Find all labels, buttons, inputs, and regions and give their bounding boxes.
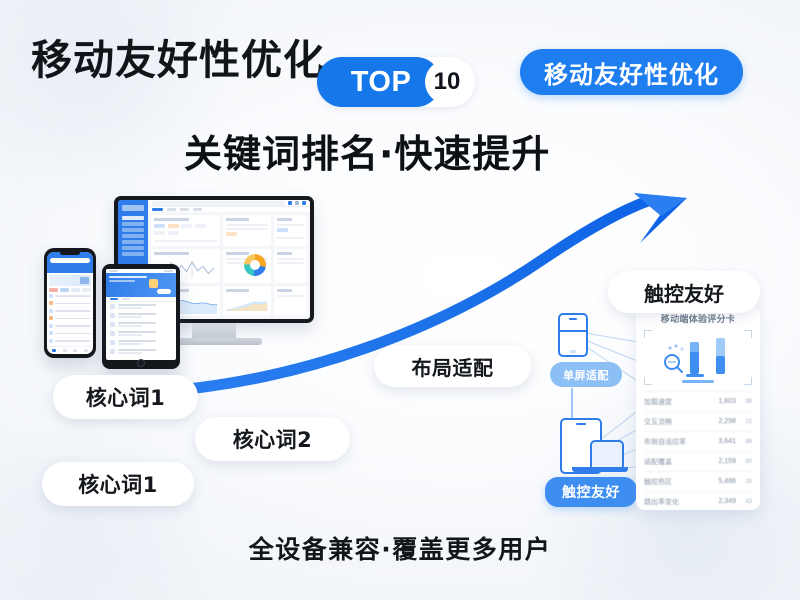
touch-friendly-heading: 触控友好 [608, 271, 760, 313]
category-chip [49, 288, 58, 292]
sidebar-item [122, 246, 144, 250]
layout-adapt-pill[interactable]: 布局适配 [374, 345, 531, 387]
scorecard-bar-chart [644, 330, 752, 385]
tablet-device-icon [102, 264, 180, 369]
tab-item [152, 208, 163, 211]
list-item [49, 324, 91, 328]
list-item [49, 339, 91, 343]
filter-chip [154, 224, 165, 228]
sidebar-item [122, 222, 144, 226]
donut-chart [244, 254, 266, 276]
row-icon [110, 304, 115, 309]
stat-chip [226, 232, 237, 236]
tab-item [122, 298, 130, 300]
category-chip [82, 288, 91, 292]
banner-button [157, 289, 171, 294]
mobile-experience-scorecard: 移动端体验评分卡 加载速度 [636, 305, 760, 510]
tab-item [193, 208, 202, 211]
list-item [110, 349, 172, 354]
table-row: 跳出率变化 2,349 43 [644, 491, 752, 510]
card-line [277, 224, 304, 226]
card-title [226, 252, 249, 255]
diagram-phone-icon [558, 313, 588, 357]
row-icon [49, 309, 53, 313]
banner-line [109, 276, 147, 278]
card-line [154, 240, 217, 242]
tablet-list [106, 302, 176, 360]
scorecard-rows: 加载速度 1,603 98 交互流畅 2,298 15 布局自适应率 3,641… [644, 391, 752, 510]
filter-chip [195, 224, 206, 228]
card-title [226, 218, 249, 221]
sidebar-item [122, 252, 144, 256]
top-rank-number: 10 [425, 60, 469, 104]
dashboard-card-kpi [274, 249, 307, 283]
row-icon [49, 324, 53, 328]
table-row: 适配覆盖 2,159 60 [644, 451, 752, 471]
list-item [110, 304, 172, 309]
card-title [277, 252, 292, 255]
banner-line [109, 280, 135, 282]
row-icon [49, 301, 53, 305]
smartphone-device-icon [44, 248, 96, 358]
filter-chip [154, 231, 165, 235]
row-icon [110, 313, 115, 318]
topbar-icon [295, 201, 299, 205]
tab-item [110, 298, 118, 300]
card-title [154, 218, 189, 221]
tabbar-item [73, 349, 77, 352]
dashboard-logo [122, 205, 144, 211]
tablet-home-button [137, 359, 145, 367]
list-item [110, 313, 172, 318]
list-item [49, 294, 91, 298]
keyword-pill-2[interactable]: 核心词2 [195, 417, 350, 461]
sidebar-item [122, 228, 144, 232]
phone-result-list [47, 294, 93, 347]
row-icon [49, 331, 53, 335]
diagram-laptop-base [572, 467, 628, 472]
table-row: 触控热区 5,486 28 [644, 471, 752, 491]
table-row: 布局自适应率 3,641 88 [644, 431, 752, 451]
list-item [110, 322, 172, 327]
tabbar-item [52, 349, 56, 352]
sidebar-item [122, 240, 144, 244]
phone-banner [49, 275, 91, 286]
card-title [277, 289, 292, 292]
row-icon [110, 322, 115, 327]
card-line [226, 224, 267, 226]
table-row: 交互流畅 2,298 15 [644, 411, 752, 431]
phone-tabbar [47, 346, 93, 354]
keyword-pill-1[interactable]: 核心词1 [53, 375, 198, 419]
dashboard-card-side [274, 215, 307, 246]
tabbar-item [63, 349, 67, 352]
category-chip [71, 288, 80, 292]
tab-item [180, 208, 189, 211]
card-line [226, 228, 267, 230]
tab-item [167, 208, 176, 211]
card-line [277, 295, 304, 297]
card-title [154, 252, 189, 255]
keyword-pill-3[interactable]: 核心词1 [42, 462, 194, 506]
list-item [49, 316, 91, 320]
dashboard-card-donut [223, 249, 270, 283]
table-row: 加载速度 1,603 98 [644, 391, 752, 411]
single-screen-pill: 单屏适配 [550, 362, 622, 387]
tabbar-item [84, 349, 88, 352]
status-right [164, 270, 173, 272]
sidebar-item [122, 216, 144, 220]
card-title [277, 218, 292, 221]
filter-chip [181, 224, 192, 228]
list-item [110, 331, 172, 336]
card-line [277, 237, 304, 239]
phone-screen [47, 252, 93, 354]
search-input [152, 201, 285, 206]
monitor-base [166, 338, 262, 345]
category-chip [60, 288, 69, 292]
poster-canvas: 移动友好性优化 TOP 10 移动友好性优化 关键词排名·快速提升 [0, 0, 800, 600]
phone-header [47, 252, 93, 273]
list-item [49, 301, 91, 305]
scorecard-title: 移动端体验评分卡 [644, 312, 752, 325]
tablet-screen [106, 269, 176, 360]
list-item [49, 331, 91, 335]
sidebar-item [122, 234, 144, 238]
dashboard-card-stat [223, 215, 270, 246]
row-icon [49, 294, 53, 298]
scorecard-illustration [644, 330, 752, 385]
filter-chip [168, 224, 179, 228]
row-icon [49, 339, 53, 343]
stat-chip [277, 228, 288, 232]
row-icon [110, 349, 115, 354]
list-item [110, 340, 172, 345]
row-icon [49, 316, 53, 320]
row-icon [110, 331, 115, 336]
topbar-icon [288, 201, 292, 205]
topbar-icon [302, 201, 306, 205]
phone-notch [60, 250, 80, 255]
card-title [226, 289, 249, 292]
touch-friendly-pill: 触控友好 [545, 477, 637, 507]
filter-chip [168, 231, 179, 235]
dashboard-card-misc [274, 286, 307, 316]
tablet-banner [106, 273, 176, 296]
card-line [277, 258, 304, 260]
footer-tagline: 全设备兼容·覆盖更多用户 [0, 530, 800, 566]
status-left [109, 270, 118, 272]
card-line [277, 262, 304, 264]
dashboard-card-areachart-right [223, 286, 270, 316]
banner-thumbnail [80, 277, 89, 284]
list-item [49, 309, 91, 313]
row-icon [110, 340, 115, 345]
banner-illustration [149, 279, 158, 288]
search-input [50, 258, 90, 263]
area-chart [226, 295, 267, 315]
dashboard-card-filters [151, 215, 220, 246]
